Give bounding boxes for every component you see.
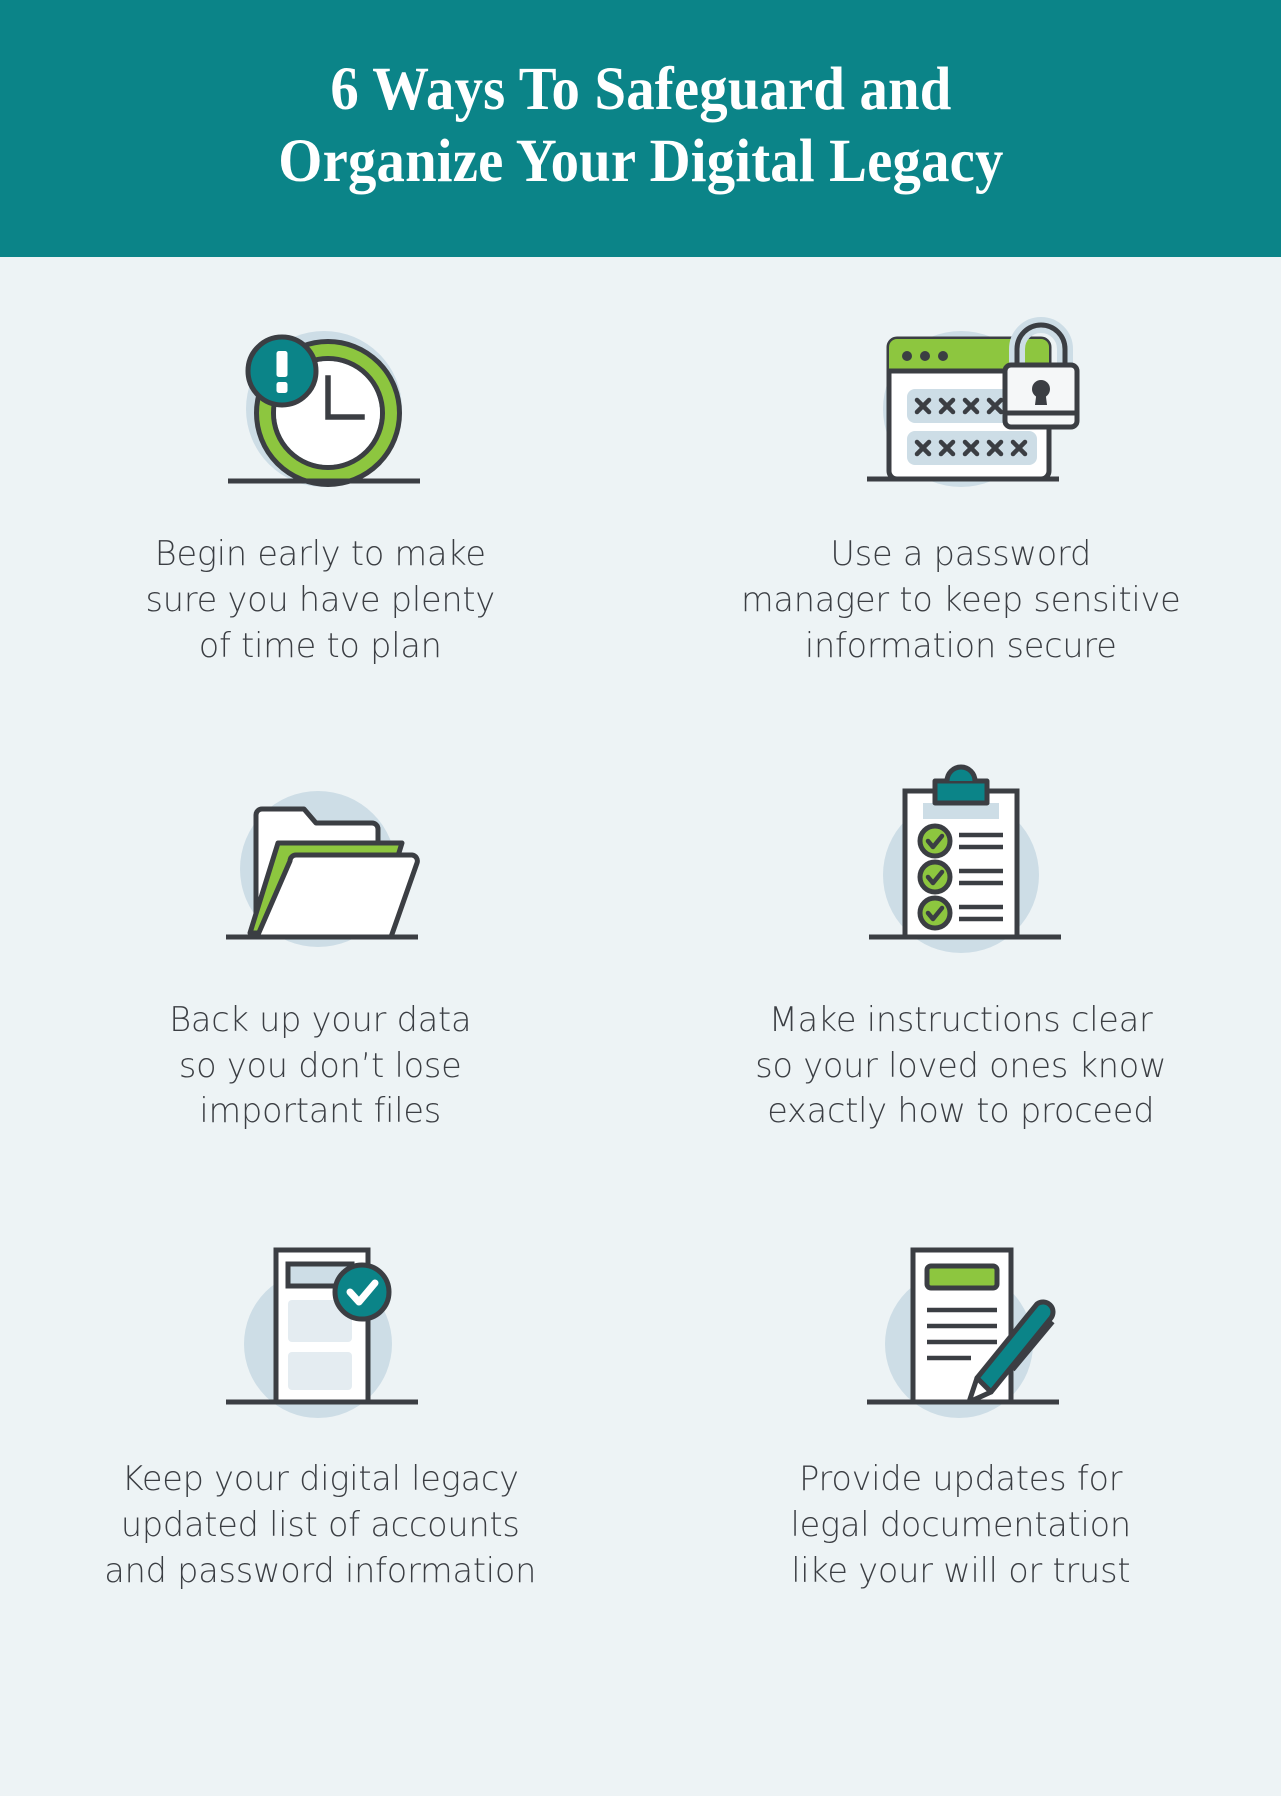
tips-row-3: Keep your digital legacy updated list of… — [0, 1196, 1281, 1594]
tip-caption-line: so you don’t lose — [169, 1043, 471, 1089]
tip-illustration-4 — [699, 737, 1224, 967]
tip-caption-line: Provide updates for — [791, 1456, 1131, 1502]
tip-illustration-6 — [699, 1196, 1224, 1426]
document-approved-icon — [190, 1226, 450, 1426]
clipboard-checklist-icon — [831, 757, 1091, 967]
tip-caption-line: like your will or trust — [791, 1548, 1131, 1594]
file-folder-icon — [190, 757, 450, 967]
tip-caption-line: and password information — [104, 1548, 536, 1594]
tip-illustration-5 — [58, 1196, 583, 1426]
tips-grid: Begin early to make sure you have plenty… — [0, 257, 1281, 1594]
infographic-page: 6 Ways To Safeguard and Organize Your Di… — [0, 0, 1281, 1796]
tip-caption-line: Make instructions clear — [755, 997, 1166, 1043]
tip-caption-line: Use a password — [741, 531, 1181, 577]
tip-caption-1: Begin early to make sure you have plenty… — [146, 531, 495, 669]
tip-item-6: Provide updates for legal documentation … — [641, 1196, 1281, 1594]
tip-caption-line: Begin early to make — [146, 531, 495, 577]
tip-item-1: Begin early to make sure you have plenty… — [0, 301, 641, 669]
tip-caption-line: exactly how to proceed — [755, 1088, 1166, 1134]
password-manager-lock-icon — [811, 301, 1111, 501]
tip-item-5: Keep your digital legacy updated list of… — [0, 1196, 641, 1594]
page-title-line-2: Organize Your Digital Legacy — [278, 126, 1003, 197]
page-title-line-1: 6 Ways To Safeguard and — [278, 54, 1003, 125]
tip-caption-3: Back up your data so you don’t lose impo… — [169, 997, 471, 1135]
tip-caption-line: of time to plan — [146, 623, 495, 669]
tip-caption-line: manager to keep sensitive — [741, 577, 1181, 623]
tip-caption-6: Provide updates for legal documentation … — [791, 1456, 1131, 1594]
tip-illustration-1 — [58, 301, 583, 501]
tip-caption-line: Back up your data — [169, 997, 471, 1043]
page-title: 6 Ways To Safeguard and Organize Your Di… — [278, 54, 1003, 197]
header-banner: 6 Ways To Safeguard and Organize Your Di… — [0, 0, 1281, 257]
tip-caption-line: Keep your digital legacy — [104, 1456, 536, 1502]
tips-row-2: Back up your data so you don’t lose impo… — [0, 737, 1281, 1135]
tip-item-2: Use a password manager to keep sensitive… — [641, 301, 1281, 669]
tip-caption-line: legal documentation — [791, 1502, 1131, 1548]
tip-caption-line: important files — [169, 1088, 471, 1134]
document-signing-pen-icon — [831, 1226, 1091, 1426]
tip-caption-line: information secure — [741, 623, 1181, 669]
alert-clock-icon — [190, 301, 450, 501]
tip-caption-line: sure you have plenty — [146, 577, 495, 623]
tip-illustration-3 — [58, 737, 583, 967]
tips-row-1: Begin early to make sure you have plenty… — [0, 301, 1281, 669]
tip-item-4: Make instructions clear so your loved on… — [641, 737, 1281, 1135]
tip-caption-line: so your loved ones know — [755, 1043, 1166, 1089]
tip-illustration-2 — [699, 301, 1224, 501]
tip-caption-line: updated list of accounts — [104, 1502, 536, 1548]
tip-item-3: Back up your data so you don’t lose impo… — [0, 737, 641, 1135]
tip-caption-2: Use a password manager to keep sensitive… — [741, 531, 1181, 669]
tip-caption-4: Make instructions clear so your loved on… — [755, 997, 1166, 1135]
tip-caption-5: Keep your digital legacy updated list of… — [104, 1456, 536, 1594]
